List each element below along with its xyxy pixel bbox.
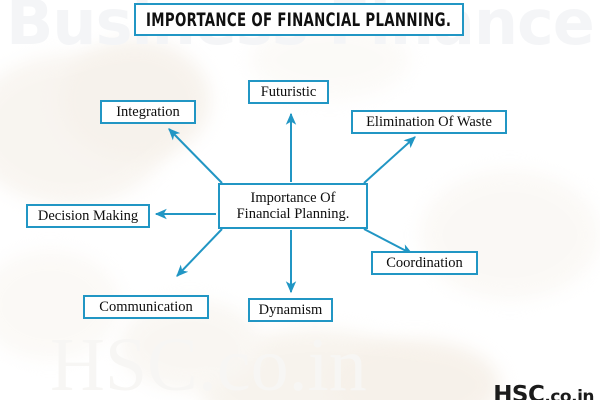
site-logo-domain: .co.in bbox=[544, 387, 594, 400]
node-integration-label: Integration bbox=[116, 104, 180, 120]
node-integration[interactable]: Integration bbox=[100, 100, 196, 124]
node-elimination-of-waste-label: Elimination Of Waste bbox=[366, 114, 492, 130]
page-title-text: IMPORTANCE OF FINANCIAL PLANNING. bbox=[146, 9, 451, 31]
node-futuristic[interactable]: Futuristic bbox=[248, 80, 329, 104]
diagram-canvas: Business Finance HSC.co.in IMPORTANCE OF… bbox=[0, 0, 600, 400]
node-communication-label: Communication bbox=[99, 299, 192, 315]
node-futuristic-label: Futuristic bbox=[261, 84, 317, 100]
node-decision-making-label: Decision Making bbox=[38, 208, 138, 224]
node-coordination[interactable]: Coordination bbox=[371, 251, 478, 275]
page-title: IMPORTANCE OF FINANCIAL PLANNING. bbox=[134, 3, 464, 36]
center-node-line2: Financial Planning. bbox=[237, 206, 350, 222]
node-elimination-of-waste[interactable]: Elimination Of Waste bbox=[351, 110, 507, 134]
site-logo-main: HSC bbox=[493, 382, 544, 400]
site-logo: HSC.co.in bbox=[493, 382, 594, 400]
node-decision-making[interactable]: Decision Making bbox=[26, 204, 150, 228]
center-node[interactable]: Importance Of Financial Planning. bbox=[218, 183, 368, 229]
arrow-to-communication bbox=[177, 229, 222, 276]
node-communication[interactable]: Communication bbox=[83, 295, 209, 319]
arrow-to-integration bbox=[169, 129, 222, 183]
node-dynamism-label: Dynamism bbox=[259, 302, 323, 318]
center-node-line1: Importance Of bbox=[237, 190, 350, 206]
node-dynamism[interactable]: Dynamism bbox=[248, 298, 333, 322]
node-coordination-label: Coordination bbox=[386, 255, 463, 271]
arrow-to-elimination bbox=[364, 137, 415, 183]
